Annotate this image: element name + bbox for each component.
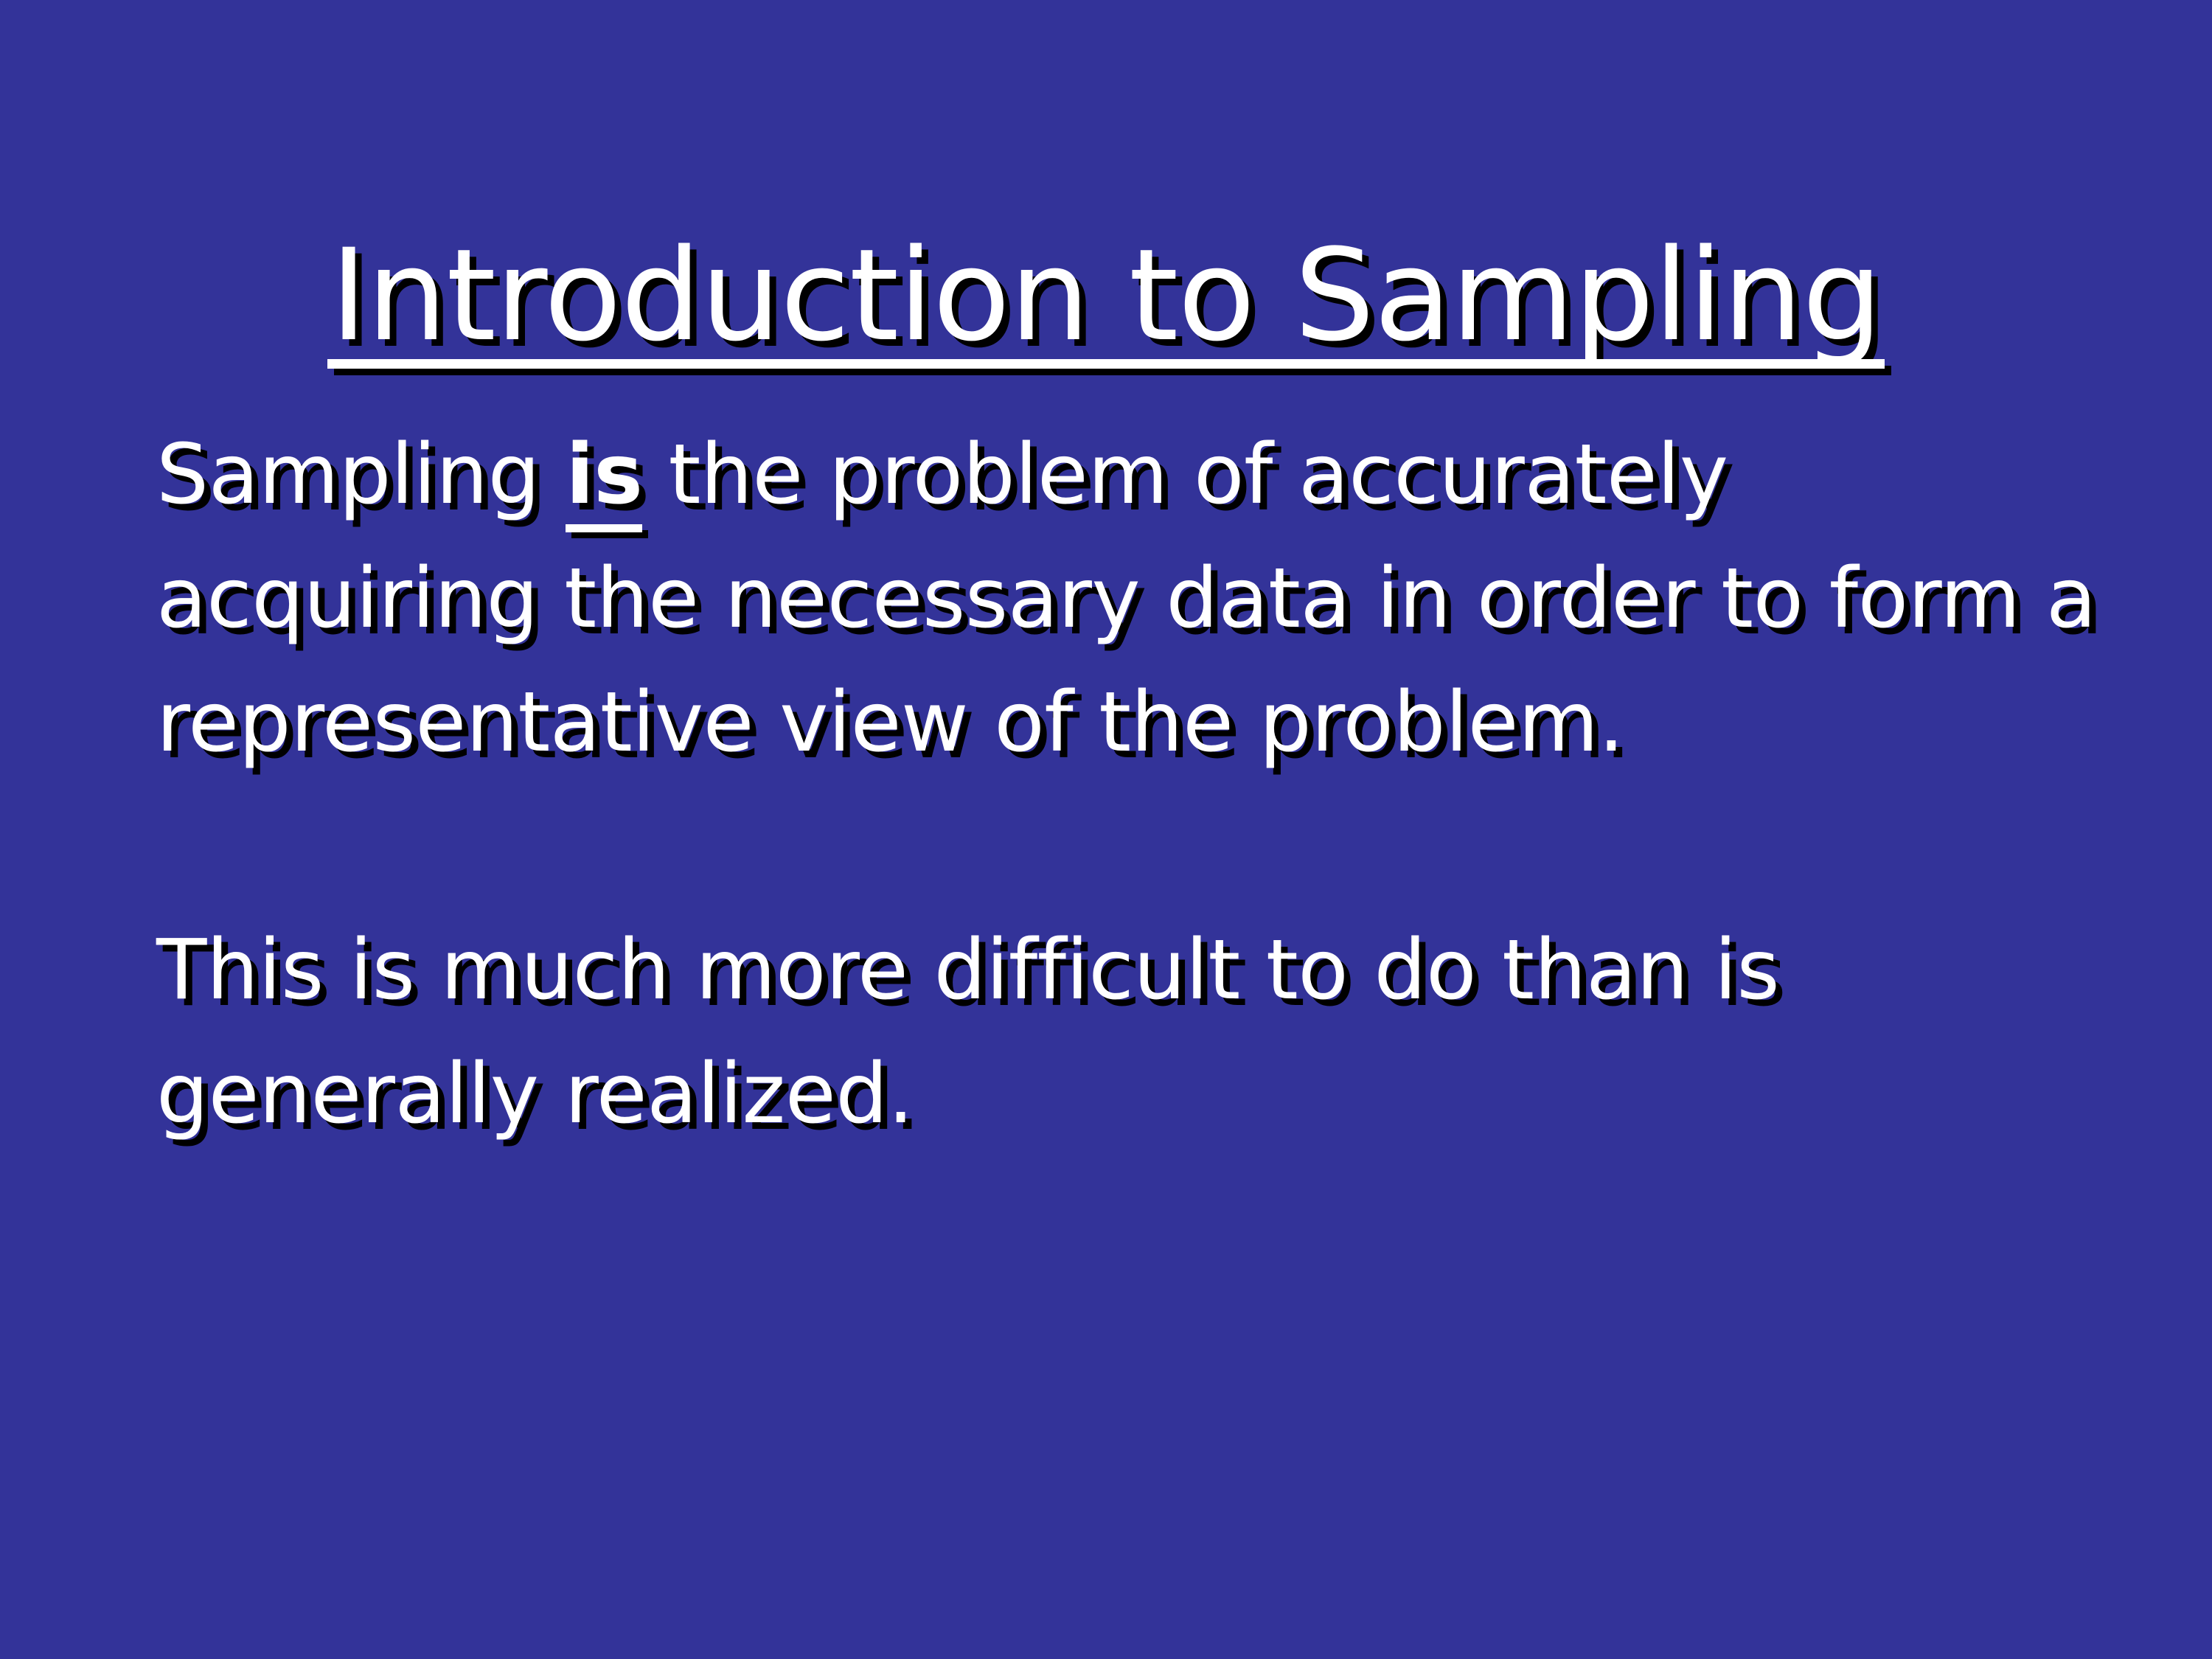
paragraph-spacer — [156, 785, 2103, 908]
paragraph-difficulty-run-1: This is much more difficult to do than i… — [156, 922, 1779, 1142]
paragraph-definition-run-1: Sampling — [156, 427, 566, 523]
paragraph-difficulty: This is much more difficult to do than i… — [156, 908, 2103, 1156]
page-title: Introduction to Sampling — [326, 229, 1887, 370]
paragraph-definition-run-2: is — [566, 427, 642, 523]
presentation-slide: Introduction to Sampling Sampling is the… — [0, 0, 2212, 1659]
slide-body-block: Sampling is the problem of accurately ac… — [156, 413, 2103, 1156]
paragraph-definition: Sampling is the problem of accurately ac… — [156, 413, 2103, 785]
slide-title-text: Introduction to Sampling — [330, 221, 1882, 369]
emphasis-underline-rule — [566, 524, 642, 532]
slide-title-block: Introduction to Sampling — [0, 145, 2212, 455]
paragraph-definition-emphasis: is — [566, 413, 642, 537]
title-underline-rule — [327, 359, 1885, 369]
